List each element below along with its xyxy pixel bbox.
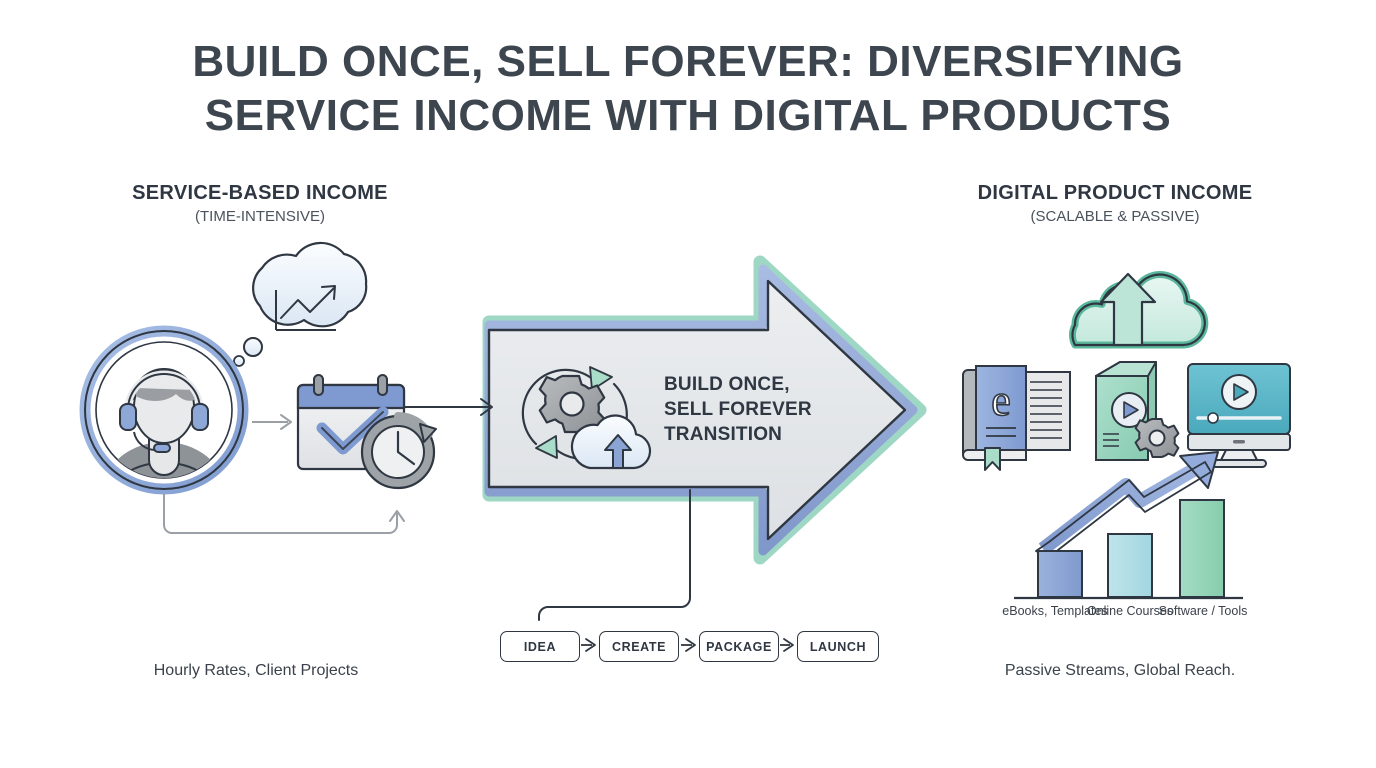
clock-refresh-icon (362, 416, 436, 488)
process-step-create[interactable]: CREATE (599, 631, 679, 662)
left-column-caption: Hourly Rates, Client Projects (46, 662, 466, 680)
arrow-label-line-3: TRANSITION (664, 422, 864, 447)
process-connector-line (534, 490, 690, 644)
person-headset-avatar-icon (85, 331, 243, 500)
arrow-label-line-2: SELL FOREVER (664, 397, 864, 422)
bar-label-software-tools: Software / Tools (1148, 604, 1258, 619)
transition-arrow-label: BUILD ONCE, SELL FOREVER TRANSITION (664, 372, 864, 447)
process-step-launch[interactable]: LAUNCH (797, 631, 879, 662)
ebook-icon: e (963, 366, 1070, 470)
process-step-package[interactable]: PACKAGE (699, 631, 779, 662)
thought-bubble-chart-icon (234, 243, 366, 366)
process-step-idea[interactable]: IDEA (500, 631, 580, 662)
monitor-video-icon (1188, 364, 1290, 467)
right-column-caption: Passive Streams, Global Reach. (910, 662, 1330, 680)
infographic-canvas: BUILD ONCE, SELL FOREVER: DIVERSIFYING S… (0, 0, 1376, 768)
arrow-label-line-1: BUILD ONCE, (664, 372, 864, 397)
svg-text:e: e (991, 376, 1011, 425)
cloud-upload-icon (1072, 274, 1204, 345)
software-box-play-icon (1096, 362, 1178, 460)
